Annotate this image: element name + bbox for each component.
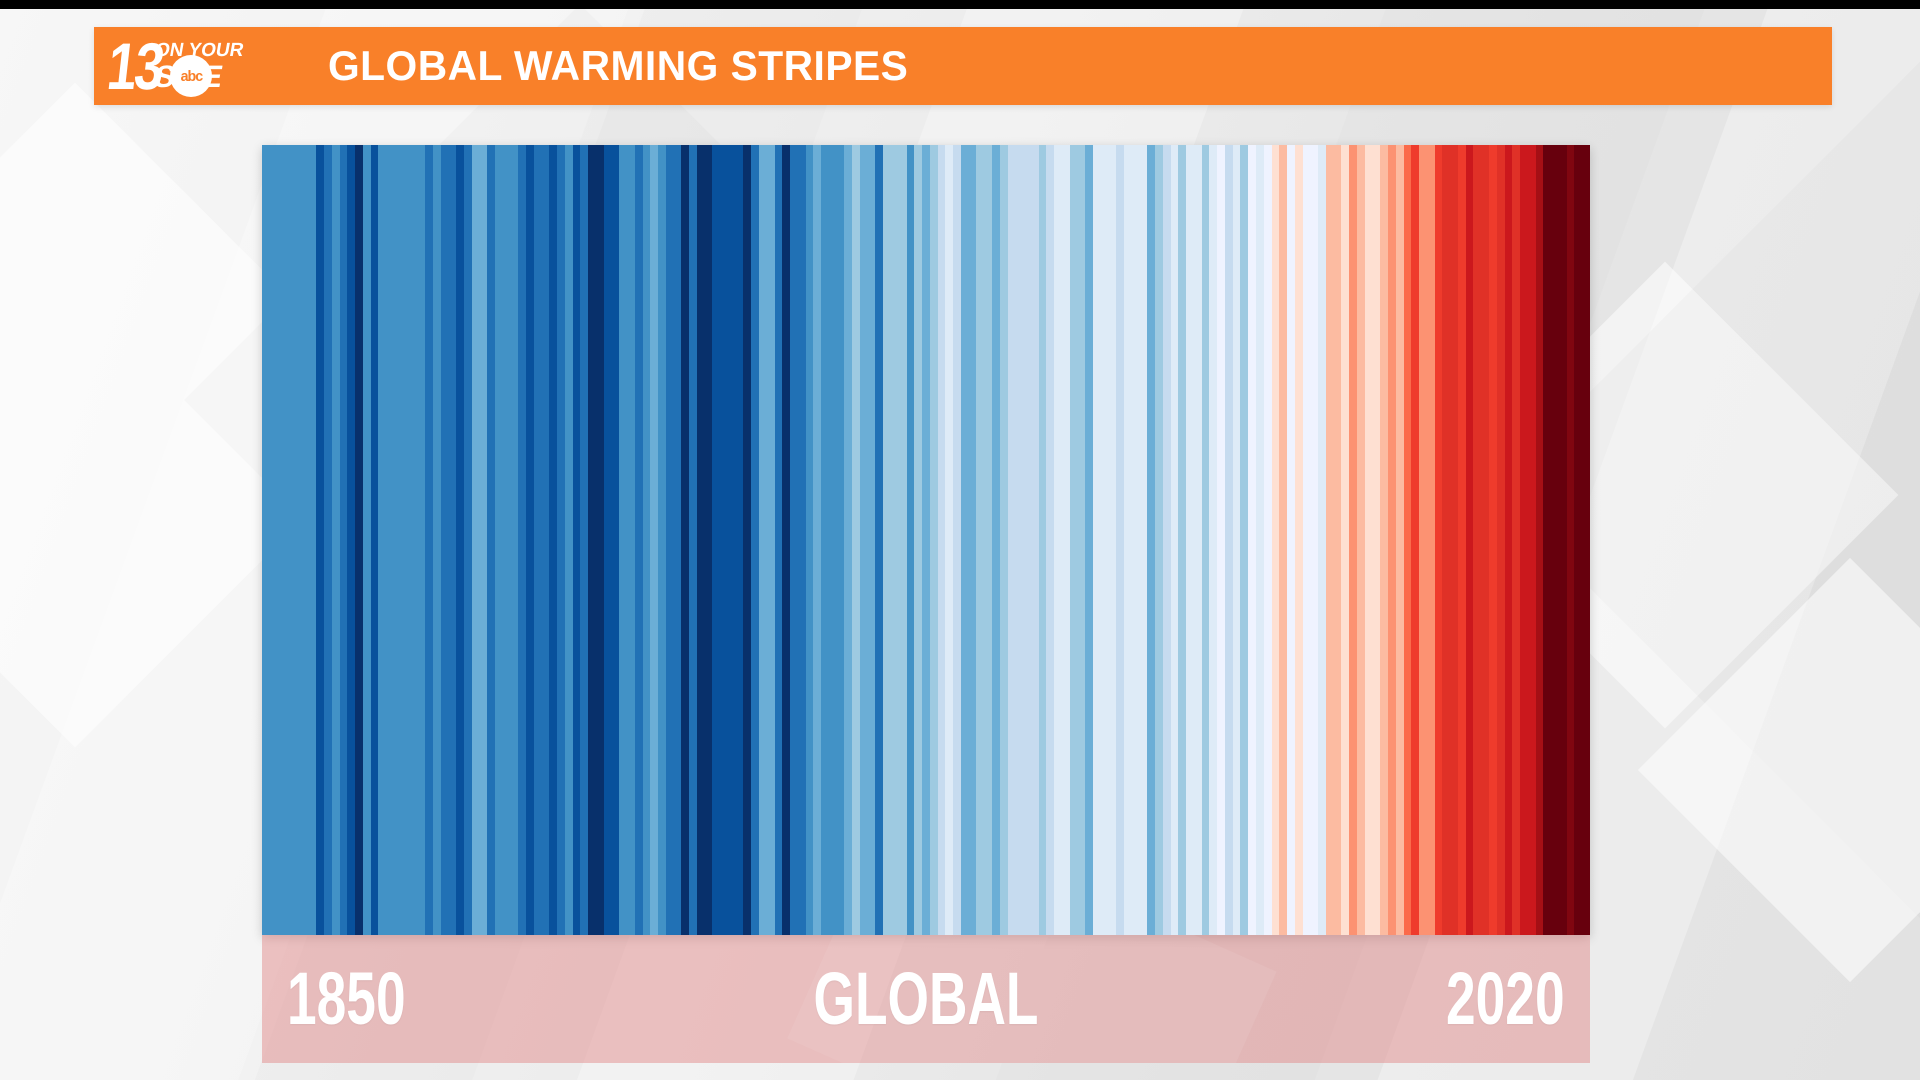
stripe-year <box>1202 145 1210 935</box>
station-logo[interactable]: 13 abc ON YOUR SIDE <box>108 33 298 99</box>
stripe-year <box>1543 145 1551 935</box>
stripe-year <box>1551 145 1559 935</box>
stripe-year <box>495 145 503 935</box>
stripe-year <box>1326 145 1334 935</box>
header-bar: 13 abc ON YOUR SIDE GLOBAL WARMING STRIP… <box>94 27 1832 105</box>
stripe-year <box>526 145 534 935</box>
stripe-year <box>1070 145 1078 935</box>
stripe-year <box>417 145 425 935</box>
stripe-year <box>782 145 790 935</box>
stripe-year <box>1272 145 1280 935</box>
stripe-year <box>961 145 969 935</box>
stripe-year <box>705 145 713 935</box>
stripe-year <box>448 145 456 935</box>
stripe-year <box>1039 145 1047 935</box>
stripe-year <box>378 145 386 935</box>
stripe-year <box>270 145 278 935</box>
stripe-year <box>573 145 581 935</box>
end-year-label: 2020 <box>1446 962 1565 1036</box>
stripe-year <box>604 145 612 935</box>
stripe-year <box>674 145 682 935</box>
stripe-year <box>1349 145 1357 935</box>
stripe-year <box>1217 145 1225 935</box>
stripe-year <box>1512 145 1520 935</box>
stripe-year <box>1505 145 1513 935</box>
stripe-year <box>262 145 270 935</box>
stripe-year <box>1372 145 1380 935</box>
stripe-year <box>736 145 744 935</box>
stripe-year <box>976 145 984 935</box>
stripe-year <box>487 145 495 935</box>
stripe-year <box>1124 145 1132 935</box>
stripe-year <box>743 145 751 935</box>
stripe-year <box>930 145 938 935</box>
stripe-year <box>798 145 806 935</box>
stripe-year <box>316 145 324 935</box>
stripe-year <box>1497 145 1505 935</box>
stripe-year <box>1567 145 1575 935</box>
stripe-year <box>301 145 309 935</box>
stripe-year <box>425 145 433 935</box>
stripe-year <box>953 145 961 935</box>
abc-network-icon: abc <box>170 55 212 97</box>
stripe-year <box>914 145 922 935</box>
stripe-year <box>1046 145 1054 935</box>
stripe-year <box>1396 145 1404 935</box>
stripe-year <box>658 145 666 935</box>
stripe-year <box>1473 145 1481 935</box>
stripe-year <box>456 145 464 935</box>
stripe-year <box>355 145 363 935</box>
stripe-year <box>549 145 557 935</box>
stripe-year <box>1341 145 1349 935</box>
stripe-year <box>386 145 394 935</box>
stripe-year <box>1178 145 1186 935</box>
stripe-year <box>1334 145 1342 935</box>
stripe-year <box>984 145 992 935</box>
stripe-year <box>1442 145 1450 935</box>
stripe-year <box>635 145 643 935</box>
stripe-year <box>1008 145 1016 935</box>
stripe-year <box>363 145 371 935</box>
stripe-year <box>627 145 635 935</box>
warming-stripes-graphic: 13 abc ON YOUR SIDE GLOBAL WARMING STRIP… <box>0 0 1920 1080</box>
stripe-year <box>611 145 619 935</box>
stripe-year <box>875 145 883 935</box>
stripe-year <box>511 145 519 935</box>
stripe-year <box>907 145 915 935</box>
stripe-year <box>821 145 829 935</box>
stripe-year <box>332 145 340 935</box>
stripe-year <box>1357 145 1365 935</box>
stripe-year <box>534 145 542 935</box>
stripe-year <box>712 145 720 935</box>
stripe-year <box>697 145 705 935</box>
stripe-year <box>565 145 573 935</box>
stripe-year <box>1318 145 1326 935</box>
stripe-year <box>650 145 658 935</box>
stripe-year <box>464 145 472 935</box>
stripe-year <box>518 145 526 935</box>
stripe-year <box>371 145 379 935</box>
stripe-year <box>1062 145 1070 935</box>
stripe-year <box>806 145 814 935</box>
stripe-year <box>1093 145 1101 935</box>
stripe-year <box>643 145 651 935</box>
warming-stripes-chart <box>262 145 1590 935</box>
stripe-year <box>837 145 845 935</box>
stripe-year <box>1023 145 1031 935</box>
stripe-year <box>1458 145 1466 935</box>
stripe-year <box>1186 145 1194 935</box>
stripe-year <box>1365 145 1373 935</box>
stripe-year <box>1279 145 1287 935</box>
stripe-year <box>1147 145 1155 935</box>
stripe-year <box>1077 145 1085 935</box>
stripe-year <box>1132 145 1140 935</box>
stripe-year <box>1310 145 1318 935</box>
stripe-year <box>580 145 588 935</box>
stripe-year <box>1427 145 1435 935</box>
page-title: GLOBAL WARMING STRIPES <box>328 42 908 90</box>
stripe-year <box>588 145 596 935</box>
stripe-year <box>1303 145 1311 935</box>
stripe-year <box>1171 145 1179 935</box>
stripe-year <box>557 145 565 935</box>
stripe-year <box>1295 145 1303 935</box>
stripe-year <box>1054 145 1062 935</box>
stripe-year <box>340 145 348 935</box>
stripe-year <box>1116 145 1124 935</box>
stripe-year <box>1559 145 1567 935</box>
stripe-year <box>720 145 728 935</box>
stripe-year <box>666 145 674 935</box>
stripe-year <box>790 145 798 935</box>
stripe-year <box>899 145 907 935</box>
stripe-year <box>844 145 852 935</box>
stripe-year <box>751 145 759 935</box>
start-year-label: 1850 <box>287 962 406 1036</box>
stripe-year <box>1404 145 1412 935</box>
stripe-year <box>1419 145 1427 935</box>
stripe-year <box>1015 145 1023 935</box>
stripe-year <box>1194 145 1202 935</box>
stripe-year <box>293 145 301 935</box>
stripe-year <box>1233 145 1241 935</box>
region-label: GLOBAL <box>448 962 1404 1036</box>
stripe-year <box>1256 145 1264 935</box>
stripe-year <box>759 145 767 935</box>
top-letterbox-bar <box>0 0 1920 9</box>
stripe-year <box>1380 145 1388 935</box>
stripe-year <box>433 145 441 935</box>
stripe-year <box>1085 145 1093 935</box>
stripe-year <box>402 145 410 935</box>
stripe-year <box>1248 145 1256 935</box>
stripe-year <box>775 145 783 935</box>
stripe-year <box>1101 145 1109 935</box>
stripe-year <box>619 145 627 935</box>
stripe-year <box>347 145 355 935</box>
stripe-year <box>441 145 449 935</box>
stripe-year <box>394 145 402 935</box>
chart-label-band: 1850 GLOBAL 2020 <box>262 935 1590 1063</box>
stripe-year <box>1435 145 1443 935</box>
stripe-year <box>945 145 953 935</box>
stripe-year <box>938 145 946 935</box>
stripe-year <box>1140 145 1148 935</box>
stripe-year <box>852 145 860 935</box>
stripe-year <box>681 145 689 935</box>
stripe-year <box>1240 145 1248 935</box>
stripe-year <box>1466 145 1474 935</box>
stripe-year <box>1450 145 1458 935</box>
stripe-year <box>1287 145 1295 935</box>
stripe-year <box>542 145 550 935</box>
stripe-year <box>410 145 418 935</box>
stripe-year <box>1489 145 1497 935</box>
stripe-year <box>883 145 891 935</box>
stripe-year <box>479 145 487 935</box>
stripe-year <box>1209 145 1217 935</box>
stripe-year <box>503 145 511 935</box>
stripe-year <box>891 145 899 935</box>
stripe-year <box>1528 145 1536 935</box>
stripe-year <box>1031 145 1039 935</box>
stripe-year <box>1536 145 1544 935</box>
abc-network-label: abc <box>180 68 202 85</box>
stripe-year <box>1264 145 1272 935</box>
stripe-year <box>767 145 775 935</box>
stripe-year <box>922 145 930 935</box>
stripe-year <box>1520 145 1528 935</box>
stripe-year <box>813 145 821 935</box>
stripe-year <box>278 145 286 935</box>
stripe-year <box>829 145 837 935</box>
stripe-year <box>472 145 480 935</box>
stripe-year <box>1481 145 1489 935</box>
stripe-year <box>1000 145 1008 935</box>
stripe-year <box>689 145 697 935</box>
stripe-year <box>1108 145 1116 935</box>
stripe-year <box>1163 145 1171 935</box>
stripe-year <box>324 145 332 935</box>
stripe-year <box>309 145 317 935</box>
stripe-year <box>1155 145 1163 935</box>
stripe-year <box>285 145 293 935</box>
stripe-year <box>1388 145 1396 935</box>
stripe-year <box>969 145 977 935</box>
stripe-year <box>868 145 876 935</box>
stripe-year <box>1225 145 1233 935</box>
stripe-year <box>992 145 1000 935</box>
stripe-year <box>1411 145 1419 935</box>
stripe-year <box>596 145 604 935</box>
stripe-year <box>860 145 868 935</box>
stripe-year <box>1582 145 1590 935</box>
stripe-year <box>728 145 736 935</box>
stripe-year <box>1574 145 1582 935</box>
